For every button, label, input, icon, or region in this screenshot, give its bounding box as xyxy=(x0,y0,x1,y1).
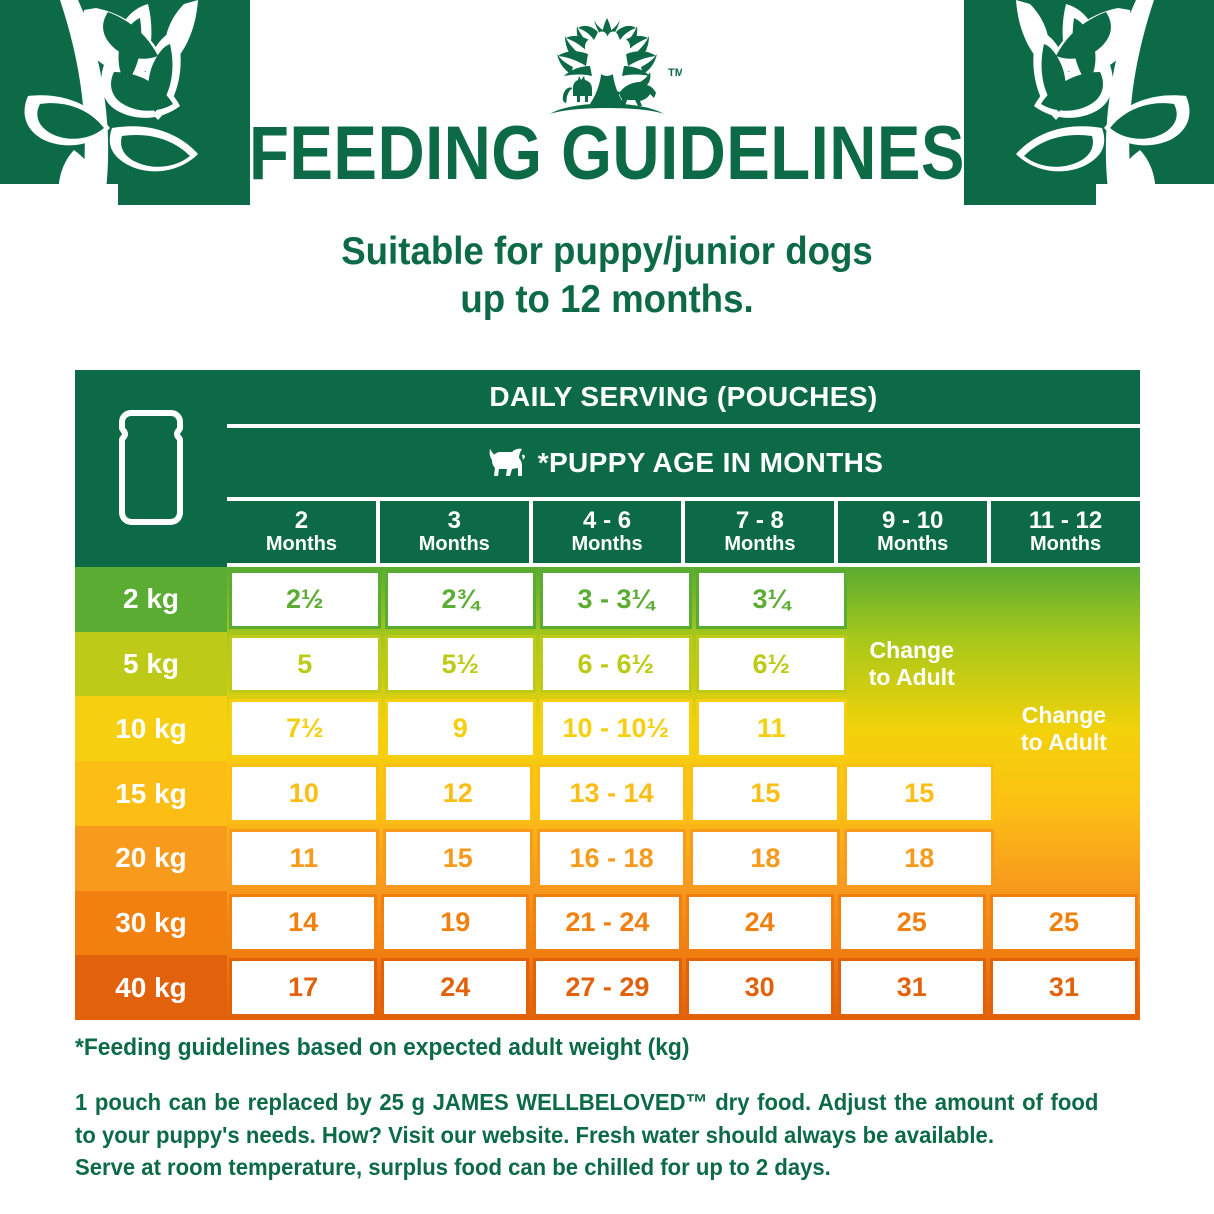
serving-cell-r7-c4: 30 xyxy=(686,958,834,1017)
pouch-icon xyxy=(110,410,192,528)
age-column-header-3: 4 - 6Months xyxy=(533,501,686,563)
serving-grid: 2½2¾3 - 3¼3¼55½6 - 6½6½7½910 - 10½111012… xyxy=(227,567,1140,1020)
change-to-adult-label-9-10: Changeto Adult xyxy=(836,567,988,761)
serving-cell-r4-c1: 10 xyxy=(229,764,379,823)
dog-icon xyxy=(484,446,528,480)
age-range-unit: Months xyxy=(266,534,337,556)
age-range-unit: Months xyxy=(572,534,643,556)
age-column-headers: 2Months3Months4 - 6Months7 - 8Months9 - … xyxy=(227,501,1140,563)
change-to-adult-line1: Change xyxy=(869,637,955,664)
age-range-unit: Months xyxy=(1030,534,1101,556)
weight-cell-7: 40 kg xyxy=(75,955,227,1020)
age-range-value: 3 xyxy=(448,508,461,534)
serving-cell-r6-c3: 21 - 24 xyxy=(533,894,681,953)
feeding-table: DAILY SERVING (POUCHES) *PUPPY AGE IN MO… xyxy=(75,370,1140,1020)
page-title: FEEDING GUIDELINES xyxy=(85,118,1129,190)
table-header-right: DAILY SERVING (POUCHES) *PUPPY AGE IN MO… xyxy=(227,370,1140,567)
serving-cell-r3-c2: 9 xyxy=(385,699,537,758)
weight-cell-1: 2 kg xyxy=(75,567,227,632)
change-to-adult-text: Changeto Adult xyxy=(1021,702,1107,755)
age-column-header-4: 7 - 8Months xyxy=(685,501,838,563)
age-range-unit: Months xyxy=(724,534,795,556)
serving-cell-r3-c4: 11 xyxy=(696,699,848,758)
serving-cell-r4-c3: 13 - 14 xyxy=(537,764,687,823)
serving-cell-r7-c1: 17 xyxy=(229,958,377,1017)
serving-cell-r2-c3: 6 - 6½ xyxy=(540,635,692,694)
feeding-guidelines-page: TM FEEDING GUIDELINES Suitable for puppy… xyxy=(0,0,1214,1214)
serving-cell-r4-c5: 15 xyxy=(844,764,994,823)
serving-cell-r5-c5: 18 xyxy=(844,829,994,888)
age-range-unit: Months xyxy=(419,534,490,556)
footnote-weight-basis: *Feeding guidelines based on expected ad… xyxy=(75,1034,689,1062)
weight-cell-5: 20 kg xyxy=(75,826,227,891)
age-column-header-5: 9 - 10Months xyxy=(838,501,991,563)
table-body: 2 kg5 kg10 kg15 kg20 kg30 kg40 kg 2½2¾3 … xyxy=(75,567,1140,1020)
serving-cell-r3-c1: 7½ xyxy=(229,699,381,758)
serving-cell-r5-c3: 16 - 18 xyxy=(537,829,687,888)
serving-cell-r1-c4: 3¼ xyxy=(696,570,848,629)
trademark-symbol: TM xyxy=(668,67,682,79)
daily-serving-banner: DAILY SERVING (POUCHES) xyxy=(227,370,1140,428)
page-subtitle: Suitable for puppy/junior dogs up to 12 … xyxy=(36,228,1177,323)
footnote-body-part2: Serve at room temperature, surplus food … xyxy=(75,1151,1098,1184)
footnote-body-part1: 1 pouch can be replaced by 25 g JAMES WE… xyxy=(75,1089,1098,1148)
change-to-adult-label-11-12: Changeto Adult xyxy=(988,567,1140,891)
table-header: DAILY SERVING (POUCHES) *PUPPY AGE IN MO… xyxy=(75,370,1140,567)
serving-cell-r4-c4: 15 xyxy=(690,764,840,823)
age-range-unit: Months xyxy=(877,534,948,556)
weight-cell-4: 15 kg xyxy=(75,761,227,826)
subtitle-line-2: up to 12 months. xyxy=(36,276,1177,324)
serving-cell-r5-c1: 11 xyxy=(229,829,379,888)
age-range-value: 2 xyxy=(295,508,308,534)
serving-cell-r5-c4: 18 xyxy=(690,829,840,888)
weight-cell-6: 30 kg xyxy=(75,891,227,956)
serving-cell-r1-c2: 2¾ xyxy=(385,570,537,629)
change-to-adult-line2: to Adult xyxy=(1021,729,1107,756)
serving-cell-r7-c5: 31 xyxy=(838,958,986,1017)
serving-cell-r5-c2: 15 xyxy=(383,829,533,888)
pouch-icon-cell xyxy=(75,370,227,567)
weight-column: 2 kg5 kg10 kg15 kg20 kg30 kg40 kg xyxy=(75,567,227,1020)
subtitle-line-1: Suitable for puppy/junior dogs xyxy=(36,228,1177,276)
age-column-header-6: 11 - 12Months xyxy=(991,501,1140,563)
age-range-value: 9 - 10 xyxy=(882,508,943,534)
serving-cell-r2-c2: 5½ xyxy=(385,635,537,694)
age-range-value: 7 - 8 xyxy=(736,508,784,534)
age-range-value: 11 - 12 xyxy=(1029,508,1102,534)
table-row: 141921 - 24242525 xyxy=(227,891,1140,956)
footnote-body: 1 pouch can be replaced by 25 g JAMES WE… xyxy=(75,1086,1098,1184)
age-column-header-1: 2Months xyxy=(227,501,380,563)
change-to-adult-line2: to Adult xyxy=(869,664,955,691)
table-row: 172427 - 29303131 xyxy=(227,955,1140,1020)
tree-with-paw-cat-dog-logo-icon: TM xyxy=(532,14,682,124)
serving-cell-r2-c1: 5 xyxy=(229,635,381,694)
serving-cell-r7-c3: 27 - 29 xyxy=(533,958,681,1017)
puppy-age-banner-label: *PUPPY AGE IN MONTHS xyxy=(538,447,884,479)
serving-cell-r1-c1: 2½ xyxy=(229,570,381,629)
age-column-header-2: 3Months xyxy=(380,501,533,563)
change-to-adult-line1: Change xyxy=(1021,702,1107,729)
serving-cell-r6-c2: 19 xyxy=(381,894,529,953)
serving-cell-r7-c6: 31 xyxy=(990,958,1138,1017)
serving-cell-r7-c2: 24 xyxy=(381,958,529,1017)
serving-cell-r6-c5: 25 xyxy=(838,894,986,953)
change-to-adult-text: Changeto Adult xyxy=(869,637,955,690)
serving-cell-r2-c4: 6½ xyxy=(696,635,848,694)
weight-cell-2: 5 kg xyxy=(75,632,227,697)
weight-cell-3: 10 kg xyxy=(75,696,227,761)
serving-cell-r6-c4: 24 xyxy=(686,894,834,953)
serving-cell-r1-c3: 3 - 3¼ xyxy=(540,570,692,629)
puppy-age-banner: *PUPPY AGE IN MONTHS xyxy=(227,428,1140,501)
serving-cell-r3-c3: 10 - 10½ xyxy=(540,699,692,758)
serving-cell-r6-c6: 25 xyxy=(990,894,1138,953)
brand-logo: TM xyxy=(532,14,682,124)
serving-cell-r4-c2: 12 xyxy=(383,764,533,823)
age-range-value: 4 - 6 xyxy=(583,508,631,534)
serving-cell-r6-c1: 14 xyxy=(229,894,377,953)
